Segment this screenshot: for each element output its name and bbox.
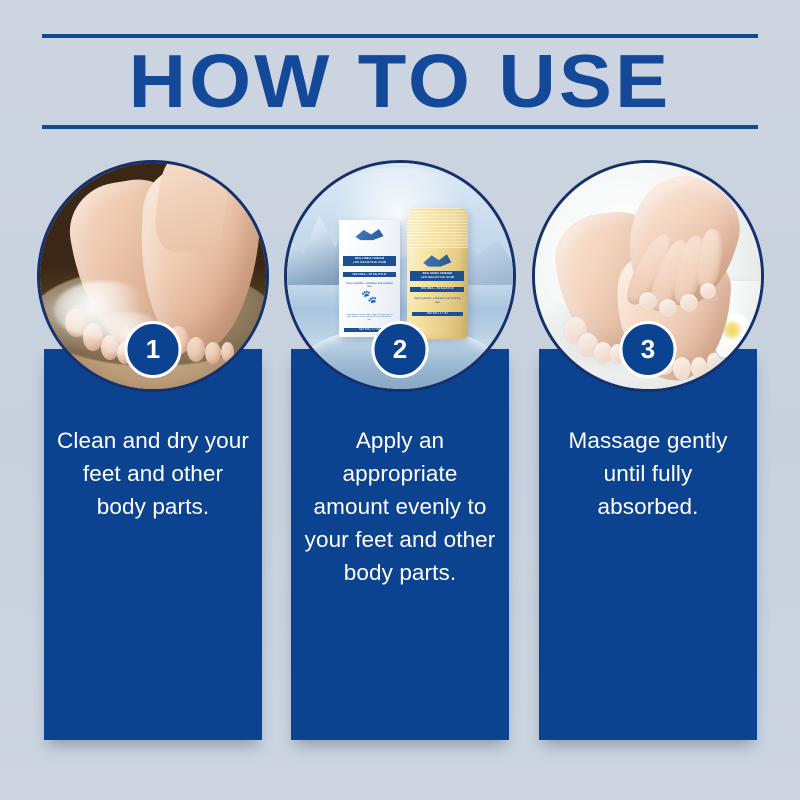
stick-benefit: Deep hydration, exfoliation and soothing… <box>412 297 463 304</box>
product-stick: 60% UREA CREAM +2% SALICYLIC ACID 60% UR… <box>407 208 468 339</box>
step-description-1: Clean and dry your feet and other body p… <box>56 424 250 523</box>
step-number-badge-1: 1 <box>125 321 182 378</box>
step-panel-1 <box>44 349 262 740</box>
step-column-2: 60% UREA CREAM +2% SALICYLIC ACID 60% UR… <box>291 160 509 740</box>
brand-logo-icon <box>355 228 383 241</box>
carton-title-line2: +2% SALICYLIC ACID <box>353 260 387 264</box>
carton-fine-print: Formulated to soften hard, rough, cracke… <box>345 314 394 322</box>
step-description-2: Apply an appropriate amount evenly to yo… <box>303 424 497 589</box>
title-rule-bottom <box>42 125 758 129</box>
photo3-toenail <box>691 357 707 377</box>
carton-benefit: Deep hydration, exfoliation and soothing… <box>344 282 395 289</box>
page-title: HOW TO USE <box>21 38 780 124</box>
header: HOW TO USE <box>42 30 758 134</box>
step-description-3: Massage gently until fully absorbed. <box>551 424 745 523</box>
photo3-fingernail <box>700 283 716 299</box>
photo1-toe <box>221 342 235 362</box>
poster-canvas: HOW TO USE <box>0 0 800 800</box>
stick-title-line2: +2% SALICYLIC ACID <box>420 275 454 279</box>
step-column-3: 3 Massage gently until fully absorbed. <box>539 160 757 740</box>
footprints-icon: 🐾 <box>359 290 380 311</box>
step-number-badge-3: 3 <box>620 321 677 378</box>
brand-logo-icon <box>423 253 451 267</box>
step-panel-3 <box>539 349 757 740</box>
photo3-fingernail <box>680 294 698 312</box>
photo1-toe <box>205 342 221 365</box>
carton-subtitle-band: 60% UREA + 2% SALICYLIC <box>343 272 397 277</box>
product-carton: 60% UREA CREAM +2% SALICYLIC ACID 60% UR… <box>339 220 400 338</box>
photo3-fingernail <box>639 292 657 310</box>
carton-title: 60% UREA CREAM +2% SALICYLIC ACID <box>343 256 397 266</box>
step-number-badge-2: 2 <box>372 321 429 378</box>
photo3-fingernail <box>659 299 677 317</box>
stick-title: 60% UREA CREAM +2% SALICYLIC ACID <box>410 271 464 281</box>
photo3-toenail <box>673 357 691 380</box>
photo1-toe <box>187 337 205 362</box>
stick-cap <box>407 208 468 247</box>
step-column-1: 1 Clean and dry your feet and other body… <box>44 160 262 740</box>
photo3-toenail <box>707 353 721 371</box>
stick-subtitle-band: 60% UREA + 2% SALICYLIC <box>410 287 464 292</box>
stick-net-weight: NET 50G / 1.7 OZ <box>412 312 463 317</box>
